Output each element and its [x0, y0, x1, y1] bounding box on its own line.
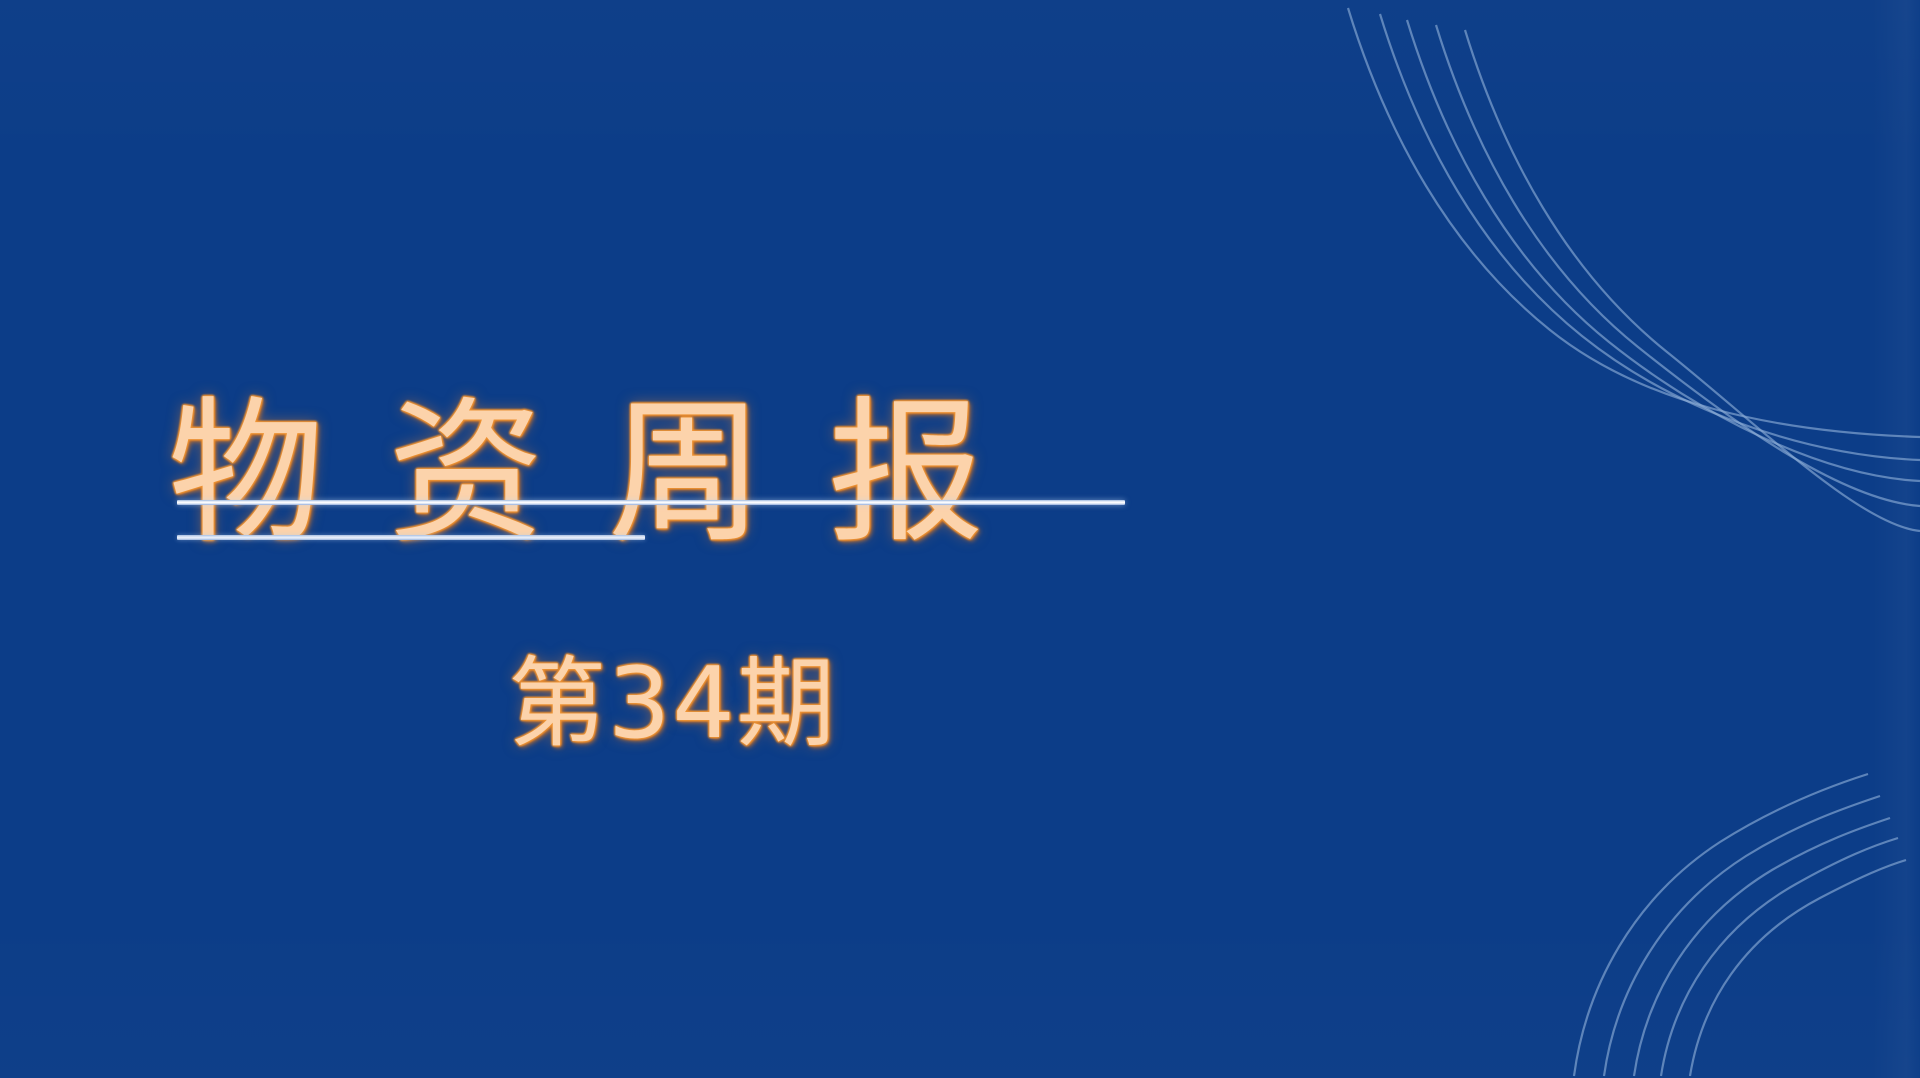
issue-number-label: 第34期	[508, 655, 837, 753]
decor-curve	[1465, 30, 1920, 531]
swoosh-top-right-decoration	[1300, 0, 1920, 570]
swoosh-bottom-right-decoration	[1560, 738, 1920, 1078]
decor-curve	[1634, 818, 1890, 1076]
decor-curve	[1574, 774, 1868, 1076]
decor-curve	[1690, 860, 1906, 1076]
decor-curve	[1661, 838, 1898, 1076]
page-title: 物资周报	[168, 395, 1048, 551]
decor-curve	[1604, 796, 1880, 1076]
title-slide: 物资周报 第34期	[0, 0, 1920, 1078]
title-rule-secondary	[177, 535, 645, 540]
decor-curve	[1380, 14, 1920, 460]
decor-curve	[1348, 8, 1920, 437]
decor-curve	[1436, 25, 1920, 506]
title-rule-primary	[177, 500, 1125, 505]
decor-curve	[1407, 20, 1920, 481]
